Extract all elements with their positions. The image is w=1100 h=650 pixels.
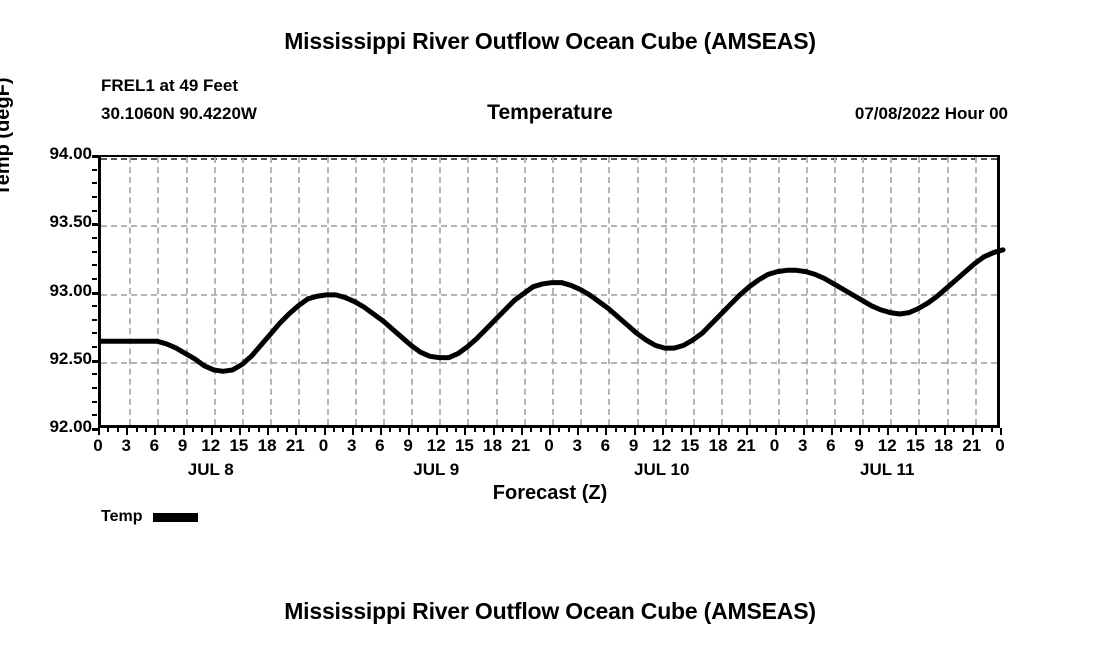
x-tick-label: 21	[962, 436, 981, 456]
x-tick-label: 0	[770, 436, 779, 456]
x-tick-minor	[681, 428, 683, 432]
x-tick-minor	[220, 428, 222, 432]
x-tick-mark	[239, 428, 241, 435]
x-tick-minor	[107, 428, 109, 432]
x-tick-minor	[145, 428, 147, 432]
x-tick-mark	[126, 428, 128, 435]
x-tick-mark	[1000, 428, 1002, 435]
x-tick-minor	[906, 428, 908, 432]
x-tick-mark	[211, 428, 213, 435]
x-tick-minor	[709, 428, 711, 432]
x-tick-minor	[201, 428, 203, 432]
x-tick-minor	[624, 428, 626, 432]
x-tick-label: 21	[511, 436, 530, 456]
y-tick-label: 92.00	[8, 417, 92, 437]
x-tick-label: 6	[601, 436, 610, 456]
y-tick-minor	[92, 182, 97, 184]
x-tick-mark	[98, 428, 100, 435]
y-tick-minor	[92, 196, 97, 198]
x-tick-minor	[361, 428, 363, 432]
plot-area	[98, 155, 1000, 428]
x-tick-minor	[934, 428, 936, 432]
x-tick-mark	[831, 428, 833, 435]
chart-page: Mississippi River Outflow Ocean Cube (AM…	[0, 0, 1100, 650]
x-tick-label: 12	[427, 436, 446, 456]
y-tick-minor	[92, 401, 97, 403]
x-tick-minor	[164, 428, 166, 432]
y-tick-minor	[92, 414, 97, 416]
x-tick-minor	[530, 428, 532, 432]
x-tick-mark	[605, 428, 607, 435]
x-tick-minor	[427, 428, 429, 432]
y-tick-label: 92.50	[8, 349, 92, 369]
x-tick-label: 6	[150, 436, 159, 456]
x-tick-minor	[765, 428, 767, 432]
x-tick-mark	[380, 428, 382, 435]
x-tick-minor	[399, 428, 401, 432]
legend-label-temp: Temp	[101, 508, 142, 526]
x-tick-minor	[652, 428, 654, 432]
x-tick-label: 3	[798, 436, 807, 456]
x-tick-label: 18	[258, 436, 277, 456]
y-tick-minor	[92, 305, 97, 307]
x-tick-label: 18	[709, 436, 728, 456]
x-tick-minor	[417, 428, 419, 432]
x-tick-minor	[850, 428, 852, 432]
y-tick-label: 93.00	[8, 281, 92, 301]
x-tick-minor	[192, 428, 194, 432]
x-tick-minor	[821, 428, 823, 432]
x-tick-minor	[671, 428, 673, 432]
run-date-label: 07/08/2022 Hour 00	[855, 104, 1008, 124]
y-tick-minor	[92, 210, 97, 212]
x-tick-mark	[183, 428, 185, 435]
x-tick-minor	[897, 428, 899, 432]
x-tick-minor	[540, 428, 542, 432]
x-tick-minor	[136, 428, 138, 432]
x-tick-label: 0	[544, 436, 553, 456]
x-tick-minor	[502, 428, 504, 432]
y-tick-minor	[92, 387, 97, 389]
y-tick-minor	[92, 169, 97, 171]
y-tick-minor	[92, 373, 97, 375]
x-tick-minor	[878, 428, 880, 432]
x-tick-mark	[718, 428, 720, 435]
x-tick-minor	[953, 428, 955, 432]
x-tick-mark	[775, 428, 777, 435]
x-day-label: JUL 10	[634, 460, 689, 480]
x-tick-label: 18	[483, 436, 502, 456]
y-tick-minor	[92, 278, 97, 280]
x-tick-minor	[389, 428, 391, 432]
x-tick-label: 6	[375, 436, 384, 456]
x-tick-mark	[859, 428, 861, 435]
x-tick-minor	[455, 428, 457, 432]
x-tick-label: 3	[572, 436, 581, 456]
x-tick-minor	[699, 428, 701, 432]
x-tick-mark	[549, 428, 551, 435]
x-tick-mark	[887, 428, 889, 435]
x-tick-minor	[258, 428, 260, 432]
y-tick-minor	[92, 332, 97, 334]
x-axis-title: Forecast (Z)	[0, 482, 1100, 505]
x-tick-minor	[981, 428, 983, 432]
x-day-label: JUL 8	[188, 460, 234, 480]
x-tick-mark	[436, 428, 438, 435]
x-tick-minor	[596, 428, 598, 432]
x-tick-label: 21	[286, 436, 305, 456]
x-day-label: JUL 11	[860, 460, 915, 480]
x-tick-minor	[342, 428, 344, 432]
x-tick-mark	[634, 428, 636, 435]
x-tick-mark	[493, 428, 495, 435]
x-tick-label: 15	[229, 436, 248, 456]
x-tick-minor	[117, 428, 119, 432]
x-tick-label: 0	[319, 436, 328, 456]
page-title-top: Mississippi River Outflow Ocean Cube (AM…	[0, 28, 1100, 55]
x-tick-minor	[643, 428, 645, 432]
x-tick-minor	[840, 428, 842, 432]
x-tick-minor	[173, 428, 175, 432]
x-tick-minor	[728, 428, 730, 432]
x-tick-label: 9	[178, 436, 187, 456]
x-tick-label: 21	[737, 436, 756, 456]
y-tick-minor	[92, 346, 97, 348]
x-tick-minor	[615, 428, 617, 432]
x-tick-minor	[370, 428, 372, 432]
x-tick-minor	[756, 428, 758, 432]
y-axis-ticks: 94.0093.5093.0092.5092.00	[0, 0, 92, 650]
y-tick-minor	[92, 264, 97, 266]
x-tick-mark	[521, 428, 523, 435]
x-tick-label: 15	[906, 436, 925, 456]
x-tick-label: 9	[629, 436, 638, 456]
x-tick-label: 12	[878, 436, 897, 456]
x-tick-minor	[558, 428, 560, 432]
x-tick-minor	[286, 428, 288, 432]
page-title-bottom: Mississippi River Outflow Ocean Cube (AM…	[0, 598, 1100, 625]
x-tick-label: 15	[680, 436, 699, 456]
x-tick-mark	[915, 428, 917, 435]
x-tick-mark	[154, 428, 156, 435]
x-tick-mark	[295, 428, 297, 435]
x-tick-minor	[474, 428, 476, 432]
x-tick-mark	[267, 428, 269, 435]
x-tick-mark	[662, 428, 664, 435]
x-tick-label: 12	[652, 436, 671, 456]
x-tick-minor	[991, 428, 993, 432]
x-tick-minor	[483, 428, 485, 432]
x-tick-minor	[587, 428, 589, 432]
x-tick-minor	[793, 428, 795, 432]
x-tick-mark	[690, 428, 692, 435]
x-tick-label: 12	[201, 436, 220, 456]
x-tick-label: 9	[854, 436, 863, 456]
x-tick-mark	[944, 428, 946, 435]
x-tick-label: 3	[347, 436, 356, 456]
legend: Temp	[101, 508, 198, 526]
temperature-series	[101, 157, 1003, 430]
x-tick-minor	[305, 428, 307, 432]
x-tick-minor	[784, 428, 786, 432]
x-tick-minor	[511, 428, 513, 432]
x-tick-minor	[248, 428, 250, 432]
x-tick-mark	[577, 428, 579, 435]
x-tick-label: 9	[403, 436, 412, 456]
x-tick-minor	[314, 428, 316, 432]
x-tick-minor	[925, 428, 927, 432]
y-tick-label: 93.50	[8, 212, 92, 232]
y-tick-minor	[92, 319, 97, 321]
x-tick-minor	[277, 428, 279, 432]
x-tick-label: 0	[995, 436, 1004, 456]
x-tick-mark	[324, 428, 326, 435]
x-tick-minor	[568, 428, 570, 432]
station-label: FREL1 at 49 Feet	[101, 76, 238, 96]
x-tick-label: 0	[93, 436, 102, 456]
x-tick-mark	[746, 428, 748, 435]
x-tick-minor	[812, 428, 814, 432]
y-tick-minor	[92, 251, 97, 253]
x-tick-mark	[972, 428, 974, 435]
x-tick-minor	[230, 428, 232, 432]
x-tick-minor	[737, 428, 739, 432]
x-tick-label: 6	[826, 436, 835, 456]
legend-swatch-temp	[153, 513, 198, 522]
x-tick-minor	[962, 428, 964, 432]
x-tick-mark	[803, 428, 805, 435]
x-tick-label: 18	[934, 436, 953, 456]
x-tick-minor	[868, 428, 870, 432]
x-tick-label: 3	[121, 436, 130, 456]
y-tick-minor	[92, 237, 97, 239]
x-tick-label: 15	[455, 436, 474, 456]
x-tick-minor	[446, 428, 448, 432]
series-line-temp	[101, 250, 1003, 371]
x-tick-minor	[333, 428, 335, 432]
x-tick-mark	[464, 428, 466, 435]
y-tick-label: 94.00	[8, 144, 92, 164]
x-day-label: JUL 9	[413, 460, 459, 480]
x-tick-mark	[408, 428, 410, 435]
x-tick-mark	[352, 428, 354, 435]
